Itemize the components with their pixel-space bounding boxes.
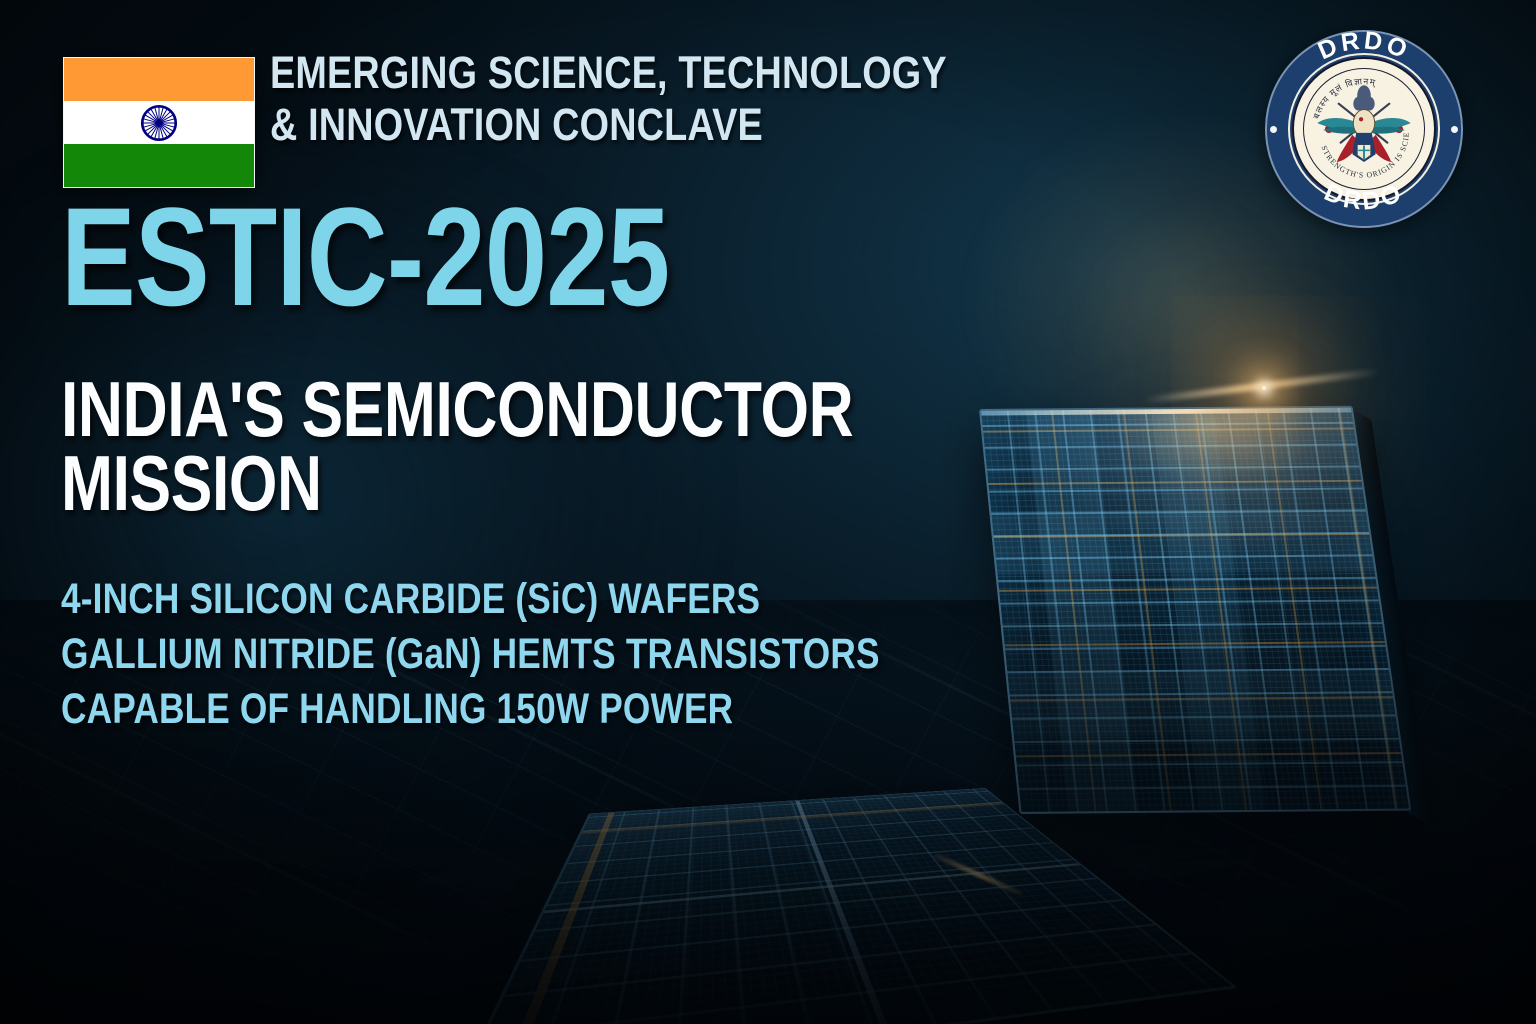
spec-text-post: ) HEMTs Transistors	[470, 630, 880, 678]
poster-canvas: Emerging Science, Technology & Innovatio…	[0, 0, 1536, 1024]
spec-text-mixed: GaN	[397, 630, 470, 678]
conclave-headline: Emerging Science, Technology & Innovatio…	[270, 50, 967, 148]
page-title: India's Semiconductor Mission	[61, 372, 981, 520]
list-item: Capable of Handling 150W Power	[61, 682, 988, 737]
drdo-emblem-icon: बलस्य मूलं विज्ञानम् STRENGTH'S ORIGIN I…	[1294, 59, 1434, 199]
spec-text-post: ) Wafers	[587, 575, 761, 623]
chip-light-flare	[1262, 386, 1266, 390]
india-flag-icon	[63, 57, 255, 188]
drdo-dot-right	[1451, 126, 1458, 133]
spec-text-pre: Capable of Handling 150W Power	[61, 685, 733, 733]
subtitle-line-2: Mission	[61, 446, 981, 520]
event-title: ESTIC-2025	[61, 200, 669, 315]
headline-line-2: & Innovation Conclave	[270, 102, 967, 148]
list-item: 4-Inch Silicon Carbide (SiC) Wafers	[61, 572, 988, 627]
spec-text-mixed: SiC	[527, 575, 586, 623]
spec-list: 4-Inch Silicon Carbide (SiC) Wafers Gall…	[61, 572, 988, 737]
drdo-inner-disc: बलस्य मूलं विज्ञानम् STRENGTH'S ORIGIN I…	[1292, 57, 1436, 201]
spec-text-pre: Gallium Nitride (	[61, 630, 397, 678]
ashoka-chakra-icon	[140, 104, 178, 142]
list-item: Gallium Nitride (GaN) HEMTs Transistors	[61, 627, 988, 682]
headline-line-1: Emerging Science, Technology	[270, 47, 947, 98]
flag-band-saffron	[64, 58, 254, 101]
drdo-logo: बलस्य मूलं विज्ञानम् STRENGTH'S ORIGIN I…	[1265, 30, 1463, 228]
drdo-dot-left	[1270, 126, 1277, 133]
spec-text-pre: 4-Inch Silicon Carbide (	[61, 575, 527, 623]
